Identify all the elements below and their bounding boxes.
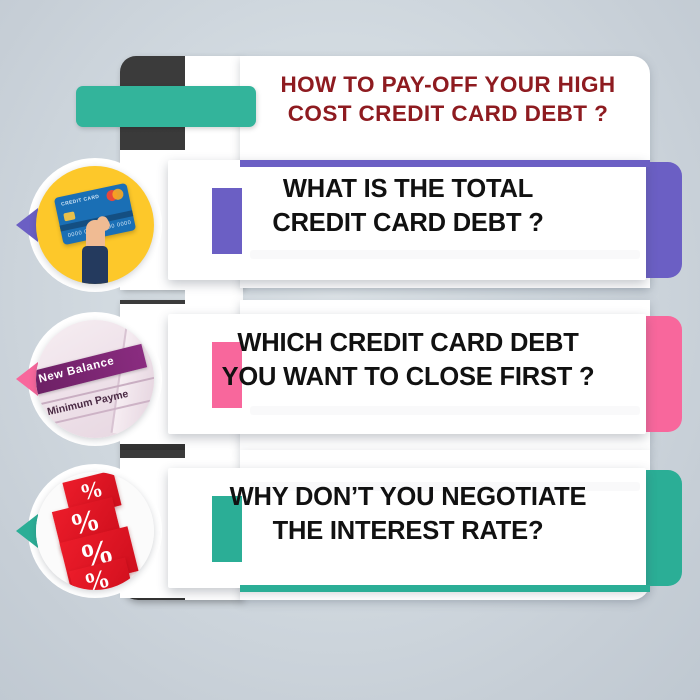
question-line-2: YOU WANT TO CLOSE FIRST ? (180, 360, 636, 394)
credit-card-statement-icon: New Balance Minimum Payme (36, 320, 154, 438)
sleeve-graphic (82, 246, 108, 284)
question-line-1: WHICH CREDIT CARD DEBT (180, 326, 636, 360)
statement-new-balance-label: New Balance (37, 355, 115, 385)
row-accent-rule-top-purple (240, 160, 650, 167)
ghost-text-artifact (250, 250, 640, 259)
question-text: WHY DON’T YOU NEGOTIATE THE INTEREST RAT… (180, 480, 636, 548)
row-accent-tab-right-teal (646, 470, 682, 586)
page-title: HOW TO PAY-OFF YOUR HIGH COST CREDIT CAR… (248, 70, 648, 128)
card-network-logo-icon (106, 188, 125, 202)
row-pointer-arrow-pink (16, 362, 38, 396)
ghost-text-artifact (250, 406, 640, 415)
row-accent-tab-right-purple (646, 162, 682, 278)
row-pointer-arrow-teal (16, 514, 38, 548)
card-chip-icon (63, 211, 75, 221)
question-line-1: WHAT IS THE TOTAL (180, 172, 636, 206)
percent-blocks-icon: % % % % (36, 472, 154, 590)
question-text: WHAT IS THE TOTAL CREDIT CARD DEBT ? (180, 172, 636, 240)
page-title-line-1: HOW TO PAY-OFF YOUR (280, 72, 551, 97)
question-line-2: THE INTEREST RATE? (180, 514, 636, 548)
row-accent-rule-bottom-teal (240, 585, 650, 592)
infographic-canvas: HOW TO PAY-OFF YOUR HIGH COST CREDIT CAR… (0, 0, 700, 700)
row-pointer-arrow-purple (16, 208, 38, 242)
question-line-1: WHY DON’T YOU NEGOTIATE (180, 480, 636, 514)
question-line-2: CREDIT CARD DEBT ? (180, 206, 636, 240)
row-accent-tab-right-pink (646, 316, 682, 432)
header-accent-tab (76, 86, 256, 127)
credit-card-label: CREDIT CARD (61, 194, 100, 208)
question-text: WHICH CREDIT CARD DEBT YOU WANT TO CLOSE… (180, 326, 636, 394)
credit-card-in-hand-icon: CREDIT CARD 0000 0000 0000 0000 (36, 166, 154, 284)
